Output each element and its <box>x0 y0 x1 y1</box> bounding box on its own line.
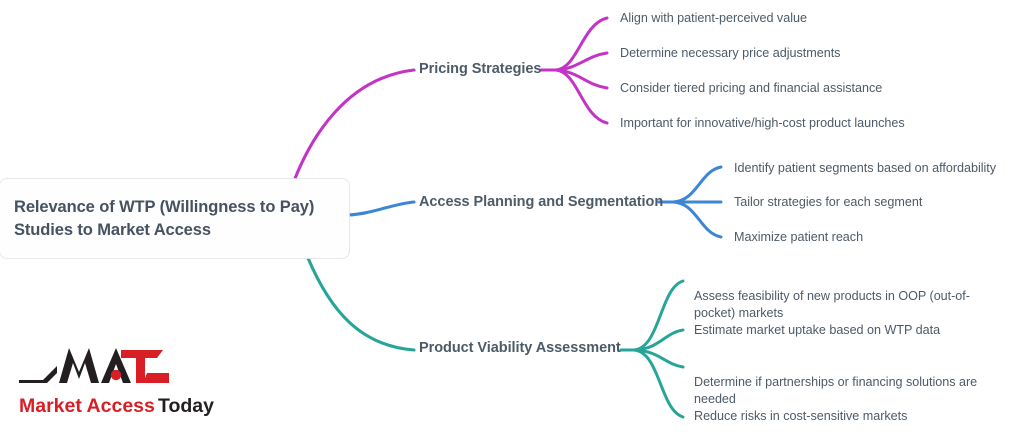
leaf-label: Align with patient-perceived value <box>620 11 807 25</box>
edge-pricing-leaf-1 <box>556 18 607 70</box>
branch-label: Access Planning and Segmentation <box>419 194 663 210</box>
logo-accent-dot <box>111 370 121 380</box>
leaf-label: Important for innovative/high-cost produ… <box>620 116 905 130</box>
leaf-label: Tailor strategies for each segment <box>734 195 922 209</box>
edge-root-to-pricing <box>294 70 414 181</box>
edge-pricing-leaf-4 <box>556 70 607 123</box>
edge-viability-leaf-3 <box>634 350 683 367</box>
edge-root-to-viability <box>308 258 414 350</box>
leaf-label: Consider tiered pricing and financial as… <box>620 81 882 95</box>
branch-node-access-planning-and-segmentation[interactable]: Access Planning and Segmentation <box>419 193 663 212</box>
root-node[interactable]: Relevance of WTP (Willingness to Pay) St… <box>0 179 349 258</box>
edge-access-leaf-1 <box>673 167 721 202</box>
branch-node-pricing-strategies[interactable]: Pricing Strategies <box>419 60 541 79</box>
edge-pricing-leaf-3 <box>556 70 607 88</box>
leaf-label: Determine necessary price adjustments <box>620 46 840 60</box>
leaf-node[interactable]: Determine necessary price adjustments <box>620 45 840 62</box>
logo-graphic: Market Access Today <box>17 342 229 420</box>
edge-pricing-leaf-2 <box>556 53 607 70</box>
leaf-label: Maximize patient reach <box>734 230 863 244</box>
logo-wordmark-primary: Market Access <box>19 395 155 417</box>
leaf-label: Estimate market uptake based on WTP data <box>694 323 940 337</box>
edge-viability-leaf-2 <box>634 330 683 350</box>
leaf-node[interactable]: Determine if partnerships or financing s… <box>694 357 994 408</box>
edge-viability-leaf-1 <box>634 281 683 350</box>
logo-wordmark-secondary: Today <box>158 395 214 417</box>
leaf-node[interactable]: Align with patient-perceived value <box>620 10 807 27</box>
leaf-node[interactable]: Maximize patient reach <box>734 229 863 246</box>
logo-right-rule-extend <box>157 373 169 383</box>
edge-root-to-access <box>348 202 414 215</box>
root-node-label: Relevance of WTP (Willingness to Pay) St… <box>14 196 329 240</box>
logo-letter-m <box>59 348 99 383</box>
mindmap-canvas: Relevance of WTP (Willingness to Pay) St… <box>0 0 1024 432</box>
logo-right-rule <box>143 373 157 383</box>
edge-viability-leaf-4 <box>634 350 683 417</box>
leaf-label: Reduce risks in cost-sensitive markets <box>694 409 907 423</box>
leaf-node[interactable]: Assess feasibility of new products in OO… <box>694 271 994 322</box>
logo-left-rule <box>19 366 57 383</box>
leaf-node[interactable]: Reduce risks in cost-sensitive markets <box>694 408 907 425</box>
branch-label: Product Viability Assessment <box>419 340 621 356</box>
leaf-node[interactable]: Tailor strategies for each segment <box>734 194 922 211</box>
leaf-node[interactable]: Consider tiered pricing and financial as… <box>620 80 882 97</box>
leaf-label: Identify patient segments based on affor… <box>734 161 996 175</box>
branch-label: Pricing Strategies <box>419 61 541 77</box>
leaf-label: Assess feasibility of new products in OO… <box>694 289 970 320</box>
leaf-node[interactable]: Estimate market uptake based on WTP data <box>694 322 940 339</box>
leaf-node[interactable]: Identify patient segments based on affor… <box>734 160 996 177</box>
branch-node-product-viability-assessment[interactable]: Product Viability Assessment <box>419 339 621 358</box>
leaf-node[interactable]: Important for innovative/high-cost produ… <box>620 115 905 132</box>
market-access-today-logo[interactable]: Market Access Today <box>17 342 229 420</box>
edge-access-leaf-3 <box>673 202 721 237</box>
leaf-label: Determine if partnerships or financing s… <box>694 375 977 406</box>
